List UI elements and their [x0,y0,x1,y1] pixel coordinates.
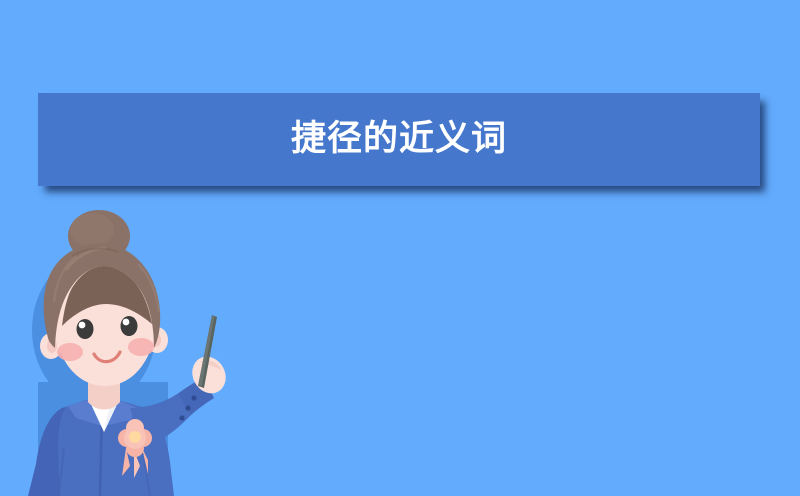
teacher-illustration [18,212,248,496]
left-cheek [57,343,83,361]
right-eye [121,316,138,336]
title-banner: 捷径的近义词 [38,93,760,186]
page-title: 捷径的近义词 [291,122,507,157]
slide-canvas: 捷径的近义词 [0,0,800,496]
right-cheek [128,338,154,356]
left-eye [77,319,94,339]
